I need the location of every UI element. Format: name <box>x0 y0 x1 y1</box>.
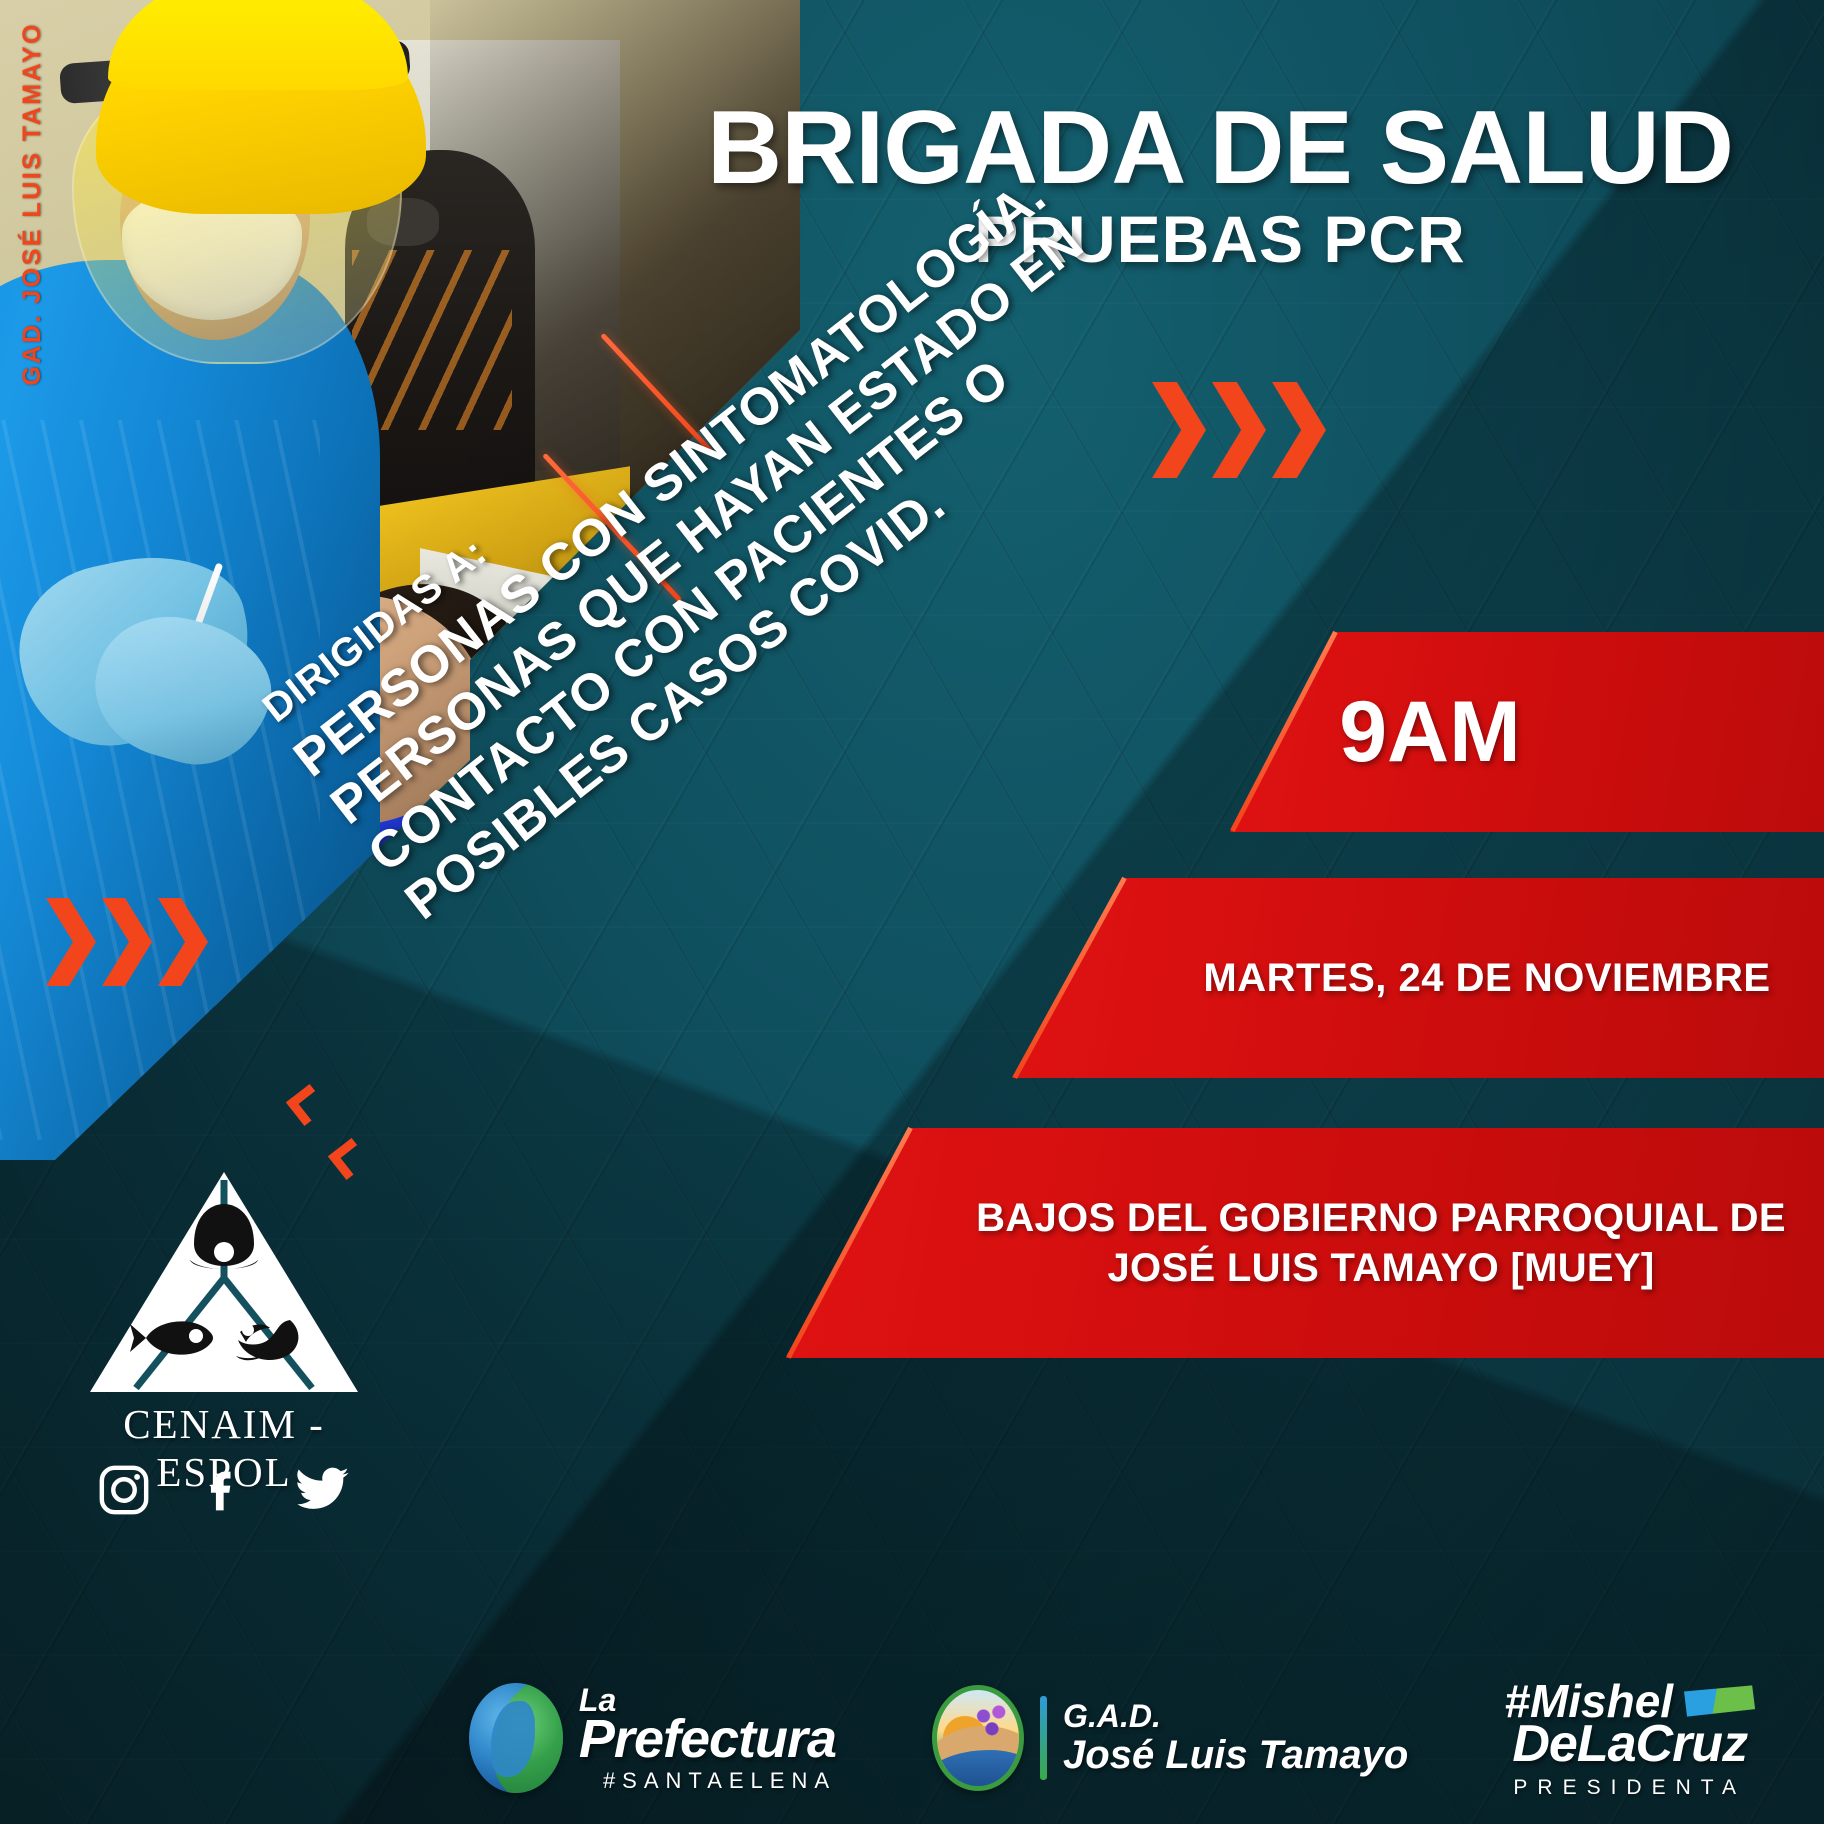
photo-credit-vertical: GAD. JOSÉ LUIS TAMAYO <box>18 22 47 386</box>
brush-stroke-icon <box>1681 1684 1755 1718</box>
gad-line-1: G.A.D. <box>1063 1699 1408 1734</box>
location-line-1: BAJOS DEL GOBIERNO PARROQUIAL DE <box>976 1193 1786 1243</box>
chevron-right-icon <box>1152 382 1206 478</box>
chevron-right-icon <box>1272 382 1326 478</box>
chevron-right-icon <box>102 898 152 986</box>
mishel-line-2: DeLaCruz <box>1504 1718 1755 1770</box>
page-title: BRIGADA DE SALUD <box>640 96 1800 200</box>
mishel-delacruz-logo: #Mishel DeLaCruz PRESIDENTA <box>1504 1678 1755 1798</box>
cenaim-espol-logo: CENAIM - ESPOL <box>74 1166 374 1496</box>
gad-logo: G.A.D. José Luis Tamayo <box>932 1685 1408 1791</box>
cenaim-triangle <box>84 1166 364 1398</box>
instagram-icon[interactable] <box>96 1462 152 1518</box>
date-banner: MARTES, 24 DE NOVIEMBRE <box>1012 878 1824 1078</box>
gad-emblem-icon <box>932 1685 1024 1791</box>
prefectura-wordmark: La Prefectura #SANTAELENA <box>579 1684 836 1792</box>
prefectura-main: Prefectura <box>579 1712 836 1766</box>
location-line-2: JOSÉ LUIS TAMAYO [MUEY] <box>976 1243 1786 1293</box>
twitter-icon[interactable] <box>294 1462 352 1518</box>
mishel-line-3: PRESIDENTA <box>1504 1777 1755 1798</box>
chevron-group-left <box>46 898 208 986</box>
footer-logo-bar: La Prefectura #SANTAELENA G.A.D. José Lu… <box>0 1678 1824 1798</box>
facebook-icon[interactable] <box>198 1462 248 1518</box>
chevron-group-right <box>1152 382 1326 478</box>
gad-line-2: José Luis Tamayo <box>1063 1734 1408 1777</box>
poster-root: GAD. JOSÉ LUIS TAMAYO BRIGADA DE SALUD P… <box>0 0 1824 1824</box>
chevron-right-icon <box>158 898 208 986</box>
prefectura-logo: La Prefectura #SANTAELENA <box>469 1683 836 1793</box>
gad-divider <box>1040 1696 1047 1780</box>
gad-wordmark: G.A.D. José Luis Tamayo <box>1063 1699 1408 1777</box>
prefectura-tag: #SANTAELENA <box>579 1770 836 1792</box>
location-banner: BAJOS DEL GOBIERNO PARROQUIAL DE JOSÉ LU… <box>786 1128 1824 1358</box>
prefectura-emblem-icon <box>469 1683 563 1793</box>
chevron-right-icon <box>1212 382 1266 478</box>
social-links <box>96 1462 352 1518</box>
chevron-right-icon <box>46 898 96 986</box>
